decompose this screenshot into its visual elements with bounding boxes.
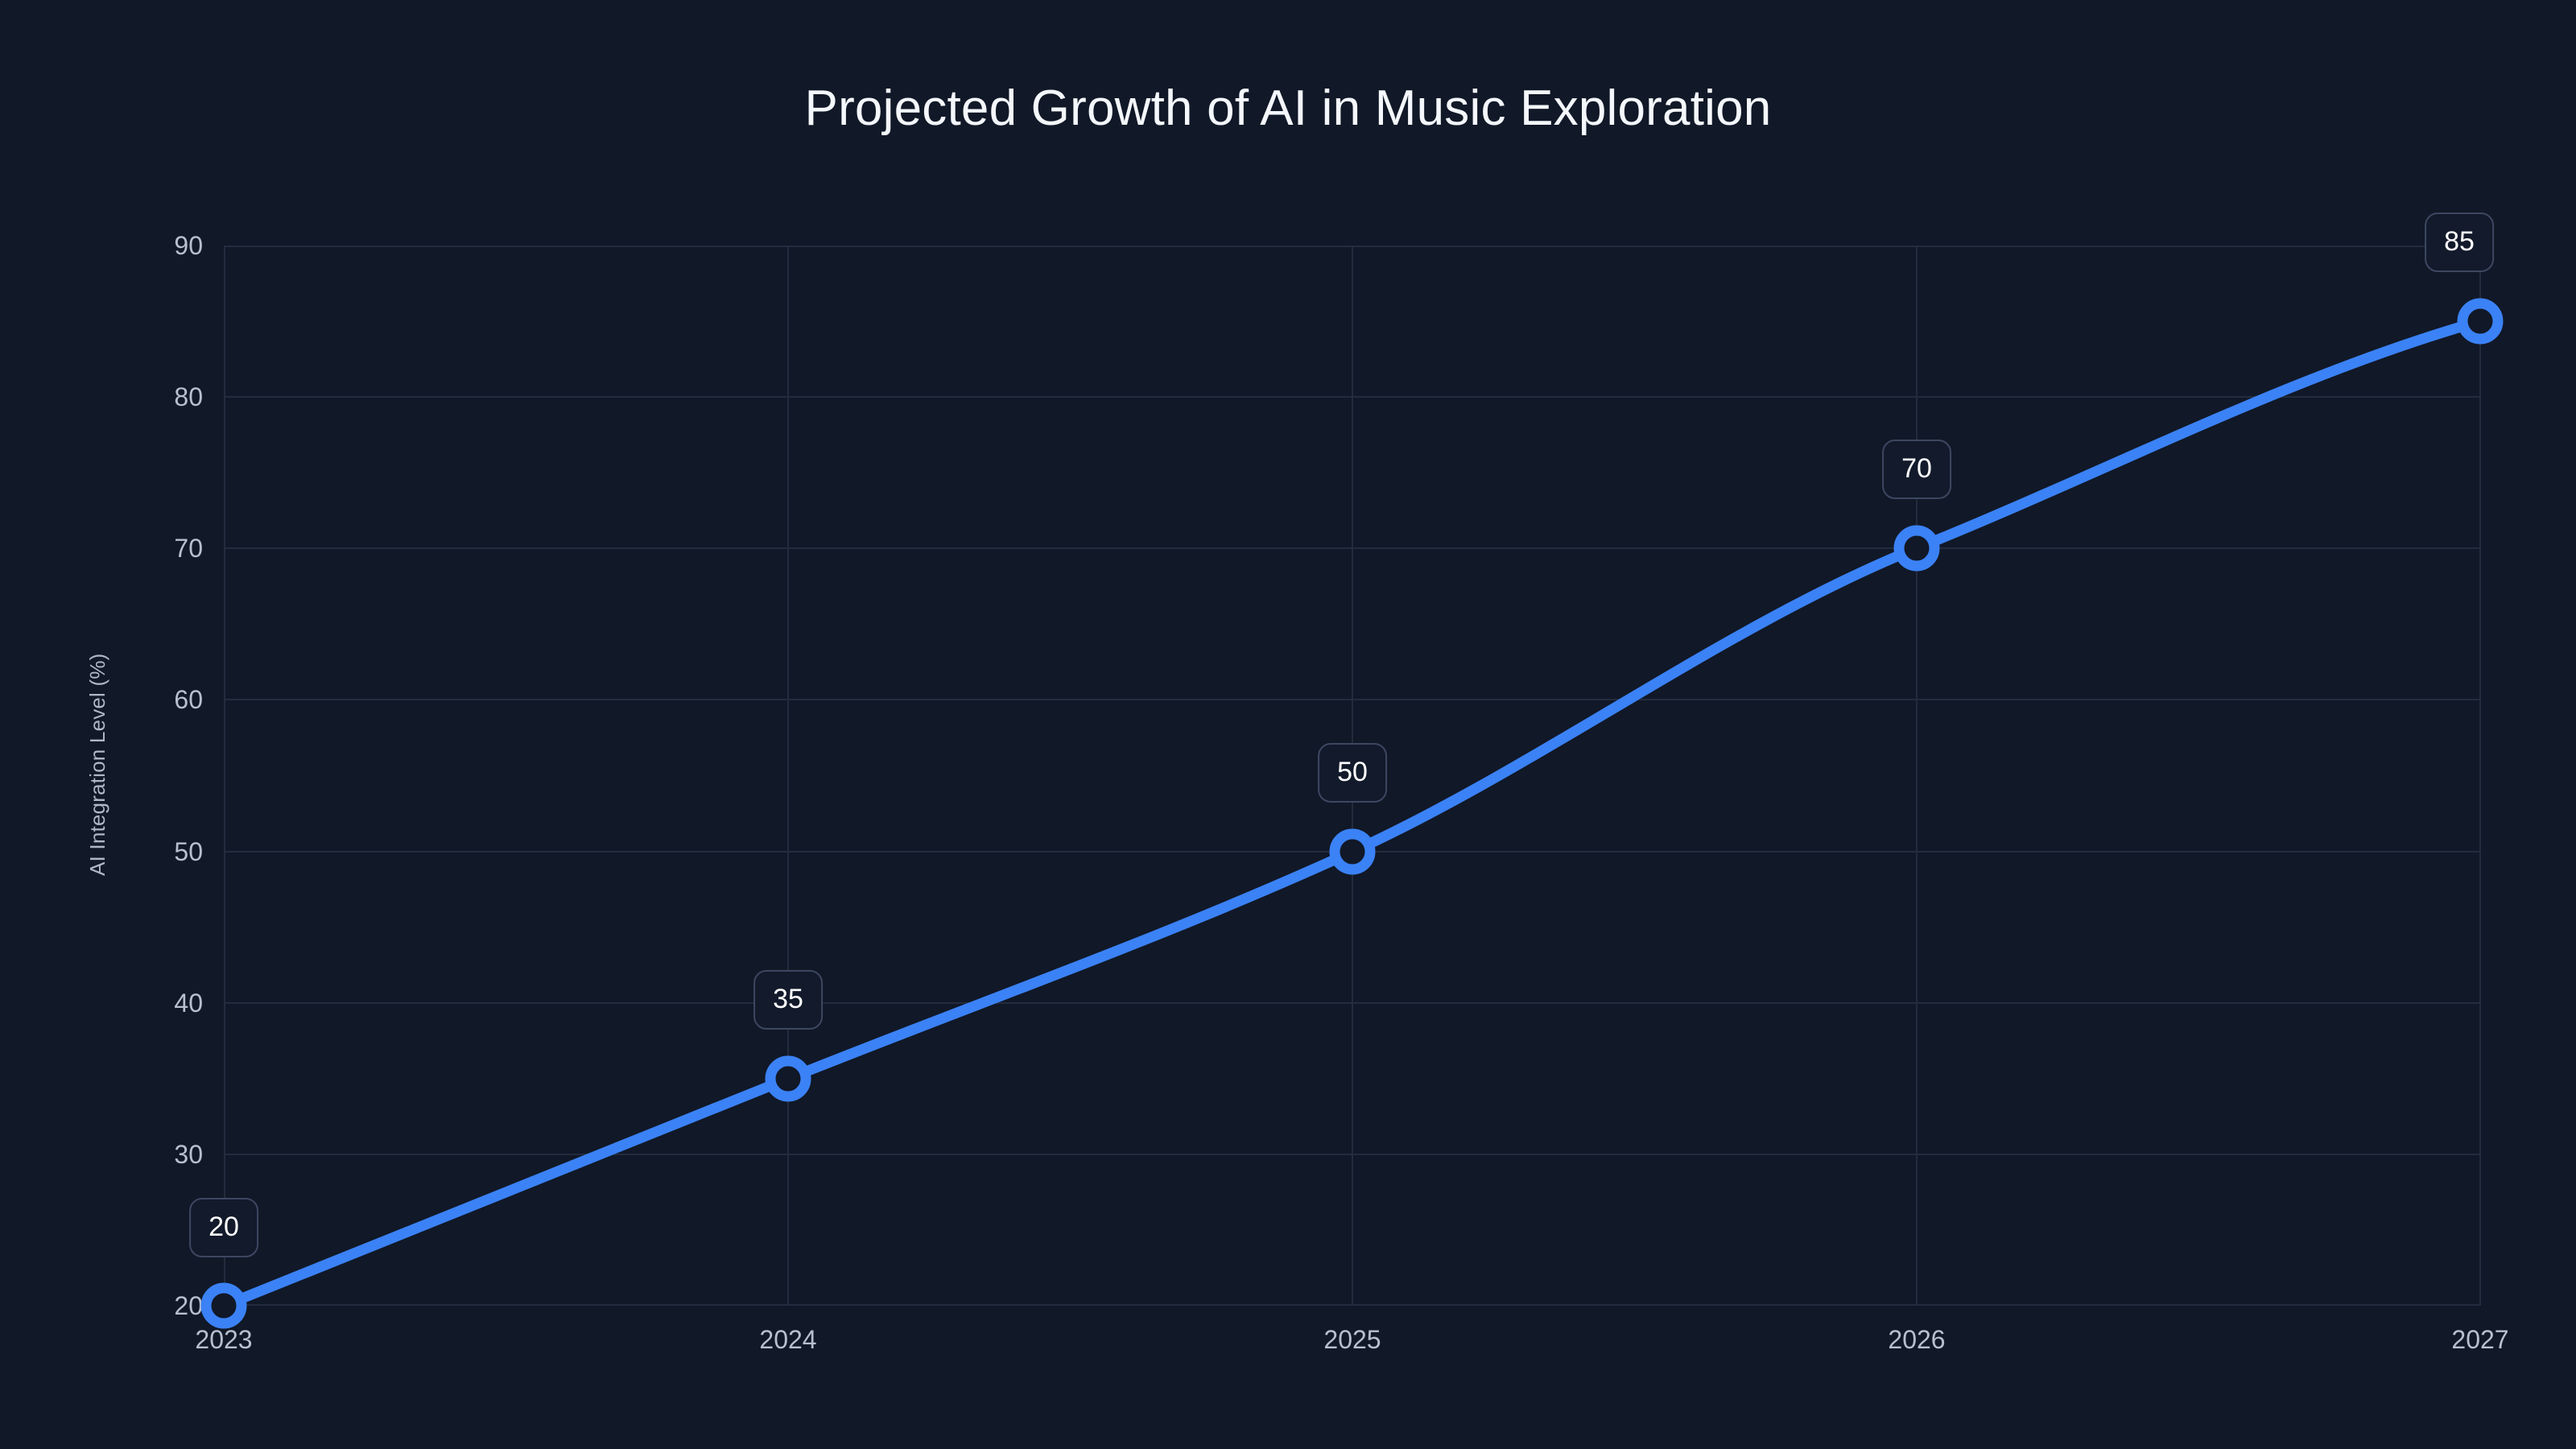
x-axis-tick: 2023 <box>195 1327 252 1352</box>
y-axis-title: AI Integration Level (%) <box>79 628 116 902</box>
x-axis-tick: 2025 <box>1323 1327 1381 1352</box>
y-axis-tick: 40 <box>174 990 203 1016</box>
y-axis-tick: 80 <box>174 384 203 410</box>
data-label-badge: 50 <box>1318 743 1387 803</box>
page-title: Projected Growth of AI in Music Explorat… <box>0 84 2576 134</box>
data-label-badge: 85 <box>2425 213 2494 272</box>
y-axis-tick: 30 <box>174 1141 203 1167</box>
y-axis-tick: 20 <box>174 1293 203 1319</box>
data-label-layer: 20 35 50 70 85 <box>224 246 2481 1306</box>
data-label-badge: 70 <box>1882 440 1951 499</box>
x-axis-tick: 2026 <box>1888 1327 1945 1352</box>
y-axis-tick: 60 <box>174 687 203 712</box>
y-axis-tick: 90 <box>174 233 203 258</box>
x-axis-tick: 2024 <box>759 1327 816 1352</box>
y-axis-tick: 70 <box>174 535 203 561</box>
y-axis-tick: 50 <box>174 839 203 865</box>
data-label-badge: 20 <box>189 1198 258 1257</box>
chart-container: Projected Growth of AI in Music Explorat… <box>0 0 2576 1449</box>
x-axis-tick: 2027 <box>2451 1327 2508 1352</box>
data-label-badge: 35 <box>753 970 823 1030</box>
y-axis-tick-labels: 90 80 70 60 50 40 30 20 <box>150 246 203 1306</box>
x-axis-tick-labels: 2023 2024 2025 2026 2027 <box>224 1327 2481 1364</box>
